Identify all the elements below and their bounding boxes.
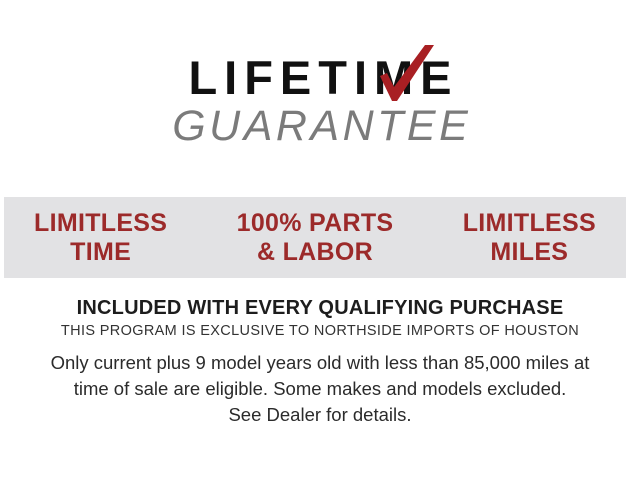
feature-line-1: LIMITLESS [463, 209, 596, 238]
feature-column-parts-labor: 100% PARTS & LABOR [237, 209, 394, 267]
headline-primary: INCLUDED WITH EVERY QUALIFYING PURCHASE [0, 296, 640, 320]
feature-column-limitless-time: LIMITLESS TIME [34, 209, 167, 267]
feature-band: LIMITLESS TIME 100% PARTS & LABOR LIMITL… [4, 197, 626, 278]
lifetime-guarantee-ad: LIFETIME GUARANTEE LIMITLESS TIME 100% P… [0, 0, 640, 480]
logo-lockup: LIFETIME GUARANTEE [169, 52, 472, 149]
logo-block: LIFETIME GUARANTEE [0, 52, 640, 149]
fineprint-line: time of sale are eligible. Some makes an… [40, 376, 600, 402]
fineprint-line: See Dealer for details. [40, 402, 600, 428]
logo-lifetime-text: LIFETIME [169, 52, 472, 104]
feature-line-2: & LABOR [237, 238, 394, 267]
feature-line-1: 100% PARTS [237, 209, 394, 238]
feature-column-limitless-miles: LIMITLESS MILES [463, 209, 596, 267]
fineprint-block: Only current plus 9 model years old with… [40, 350, 600, 428]
logo-guarantee-text: GUARANTEE [169, 103, 472, 149]
feature-line-2: MILES [463, 238, 596, 267]
feature-line-2: TIME [34, 238, 167, 267]
headline-block: INCLUDED WITH EVERY QUALIFYING PURCHASE … [0, 296, 640, 341]
headline-secondary: THIS PROGRAM IS EXCLUSIVE TO NORTHSIDE I… [0, 322, 640, 341]
fineprint-line: Only current plus 9 model years old with… [40, 350, 600, 376]
feature-line-1: LIMITLESS [34, 209, 167, 238]
